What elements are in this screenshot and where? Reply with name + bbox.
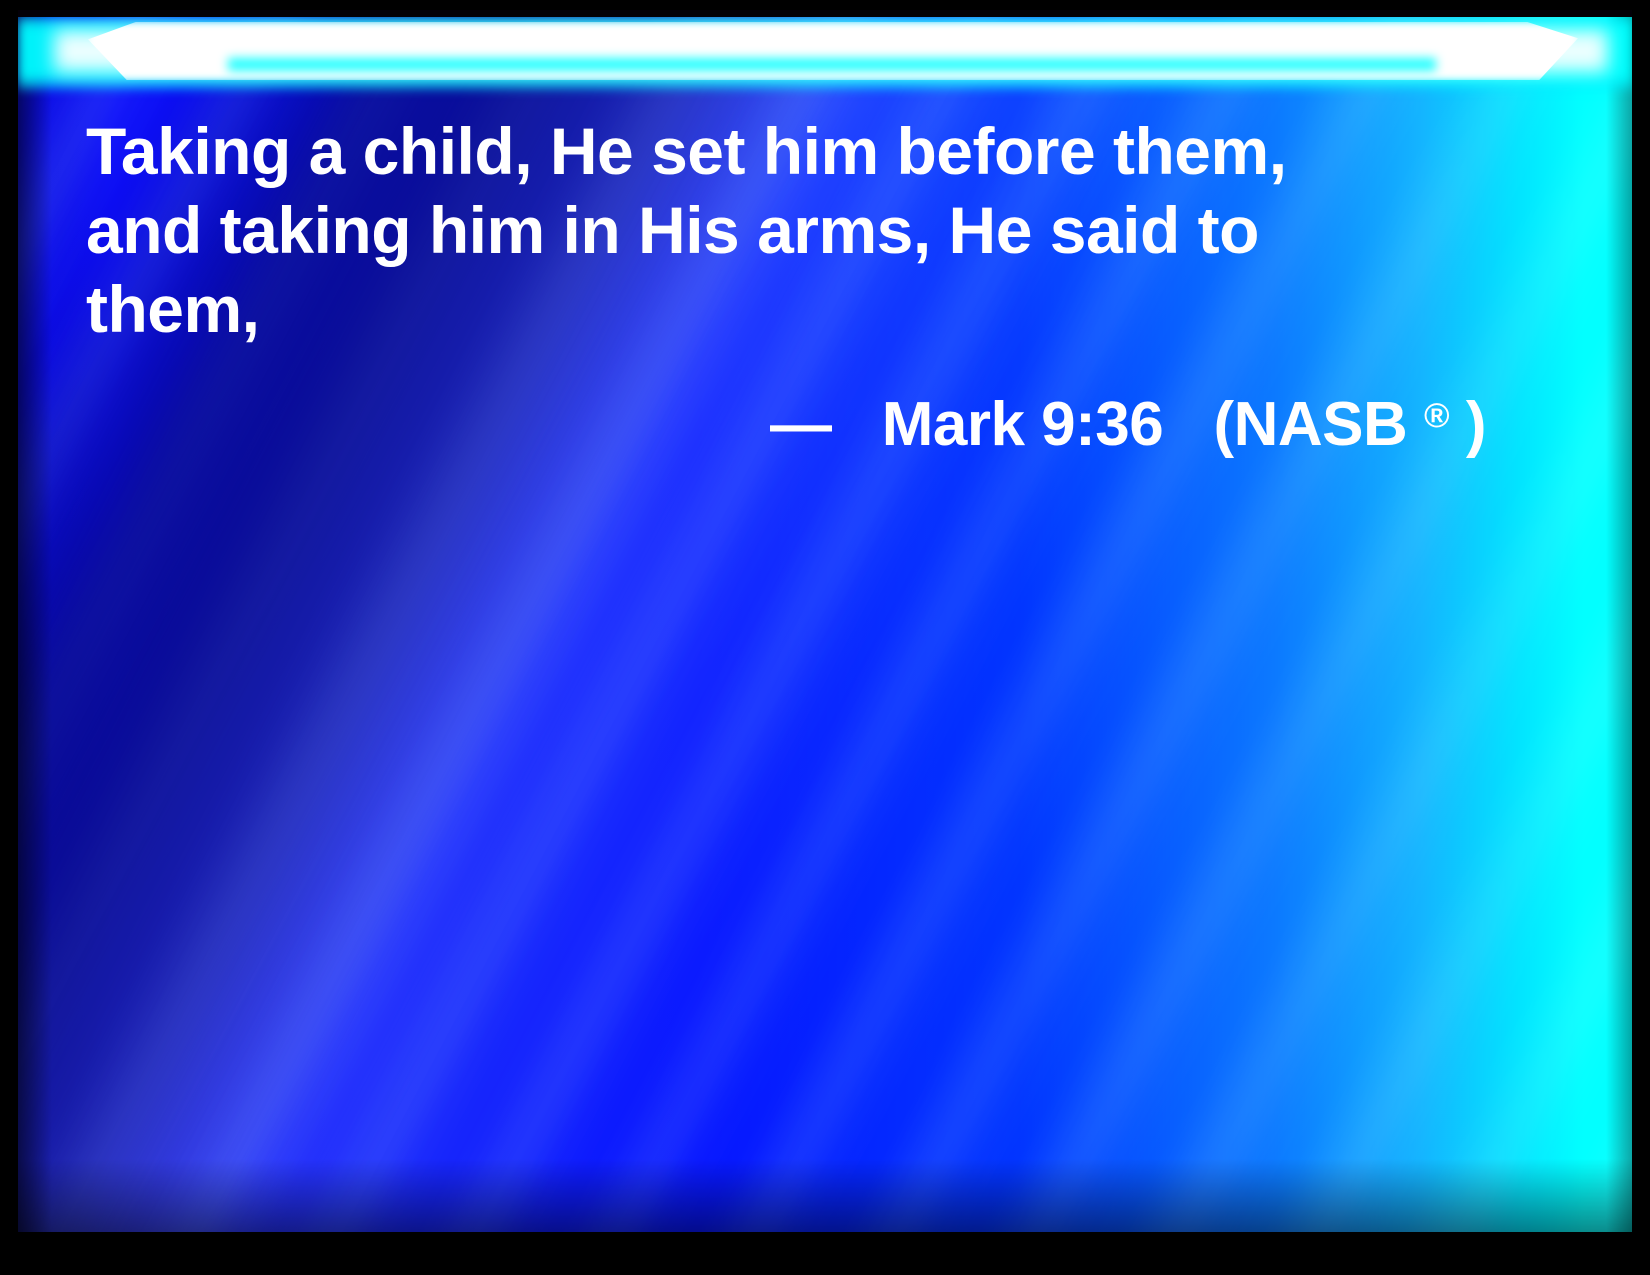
attribution-spacer	[848, 390, 865, 459]
verse-quote-text: Taking a child, He set him before them, …	[86, 112, 1416, 349]
attribution-dash: —	[770, 390, 832, 459]
attribution-reference: Mark 9:36	[882, 390, 1164, 459]
verse-attribution: — Mark 9:36 (NASB ® )	[86, 380, 1486, 461]
text-layer: Taking a child, He set him before them, …	[0, 0, 1650, 1275]
attribution-translation-close: )	[1466, 390, 1486, 459]
attribution-spacer-2	[1180, 390, 1197, 459]
registered-trademark-icon: ®	[1424, 397, 1449, 435]
verse-slide: Taking a child, He set him before them, …	[0, 0, 1650, 1275]
attribution-translation-open: (NASB	[1213, 390, 1407, 459]
